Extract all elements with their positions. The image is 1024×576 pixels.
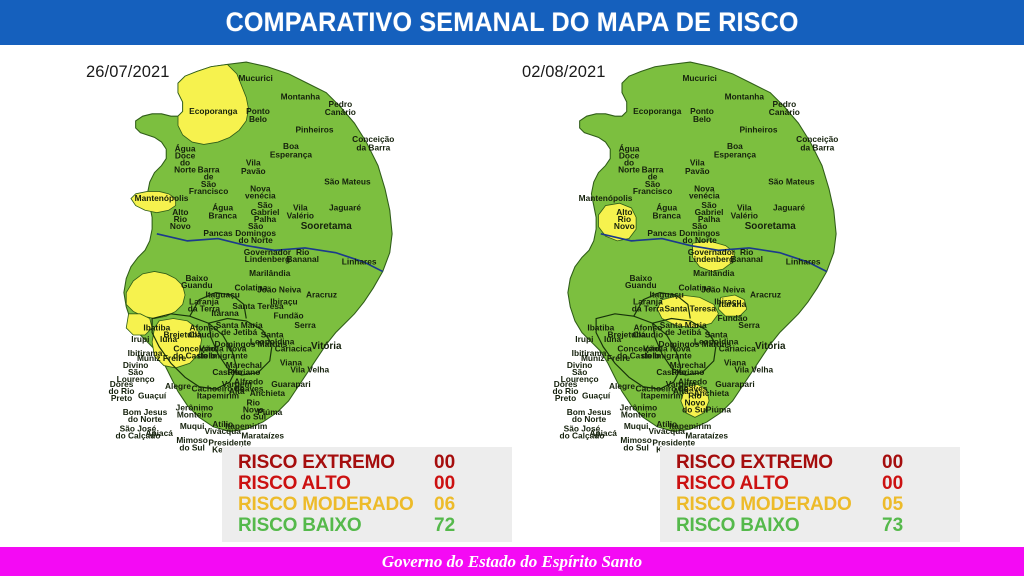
svg-text:Itarana: Itarana bbox=[211, 308, 239, 318]
legend-label-extremo: RISCO EXTREMO bbox=[238, 453, 434, 472]
svg-text:São Mateus: São Mateus bbox=[324, 176, 371, 186]
panel-week-current: 02/08/2021 bbox=[512, 45, 1024, 543]
svg-text:Pavão: Pavão bbox=[685, 166, 710, 176]
legend-label-alto: RISCO ALTO bbox=[238, 474, 434, 493]
legend-value-baixo: 72 bbox=[434, 516, 455, 535]
legend-row-moderado-right: RISCO MODERADO 05 bbox=[676, 495, 948, 514]
svg-text:Mucurici: Mucurici bbox=[682, 73, 716, 83]
svg-text:Itarana: Itarana bbox=[719, 299, 747, 309]
svg-text:Ecoporanga: Ecoporanga bbox=[633, 106, 682, 116]
svg-text:Montanha: Montanha bbox=[725, 92, 765, 102]
svg-text:São Mateus: São Mateus bbox=[768, 176, 815, 186]
svg-text:Cariacica: Cariacica bbox=[719, 343, 756, 353]
svg-text:Monteiro: Monteiro bbox=[621, 409, 656, 419]
svg-text:do Sul: do Sul bbox=[682, 405, 708, 415]
svg-text:João Neiva: João Neiva bbox=[701, 285, 745, 295]
legend-value-baixo: 73 bbox=[882, 516, 903, 535]
svg-text:Apiacá: Apiacá bbox=[589, 428, 617, 438]
legend-value-alto: 00 bbox=[882, 474, 903, 493]
legend-value-moderado: 05 bbox=[882, 495, 903, 514]
legend-label-moderado: RISCO MODERADO bbox=[238, 495, 434, 514]
legend-row-moderado-left: RISCO MODERADO 06 bbox=[238, 495, 500, 514]
svg-text:Valério: Valério bbox=[731, 211, 758, 221]
svg-text:Alta: Alta bbox=[229, 386, 245, 396]
svg-text:Sooretama: Sooretama bbox=[301, 221, 353, 232]
svg-text:Pavão: Pavão bbox=[241, 166, 266, 176]
svg-text:Norte: Norte bbox=[174, 165, 196, 175]
svg-text:da Barra: da Barra bbox=[800, 142, 834, 152]
legend-row-alto-left: RISCO ALTO 00 bbox=[238, 474, 500, 493]
svg-text:Vila Velha: Vila Velha bbox=[290, 365, 329, 375]
svg-text:Serra: Serra bbox=[294, 320, 316, 330]
map-svg-right: Mucurici Montanha Pedro Canário Ponto Be… bbox=[522, 55, 882, 455]
legend-value-moderado: 06 bbox=[434, 495, 455, 514]
page-title: COMPARATIVO SEMANAL DO MAPA DE RISCO bbox=[225, 7, 798, 38]
svg-text:Novo: Novo bbox=[170, 221, 191, 231]
svg-text:Alegre: Alegre bbox=[165, 381, 191, 391]
svg-text:da Barra: da Barra bbox=[356, 142, 390, 152]
legend-row-baixo-right: RISCO BAIXO 73 bbox=[676, 516, 948, 535]
legend-label-alto: RISCO ALTO bbox=[676, 474, 882, 493]
svg-text:Belo: Belo bbox=[693, 114, 711, 124]
svg-text:Muqui: Muqui bbox=[180, 421, 205, 431]
footer-bar: Governo do Estado do Espírito Santo bbox=[0, 547, 1024, 576]
maps-comparison-area: 26/07/2021 bbox=[0, 45, 1024, 543]
legend-value-extremo: 00 bbox=[434, 453, 455, 472]
legend-label-moderado: RISCO MODERADO bbox=[676, 495, 882, 514]
svg-text:do Norte: do Norte bbox=[238, 235, 273, 245]
svg-text:Jaguaré: Jaguaré bbox=[329, 202, 361, 212]
legend-value-extremo: 00 bbox=[882, 453, 903, 472]
svg-text:Ibatiba: Ibatiba bbox=[587, 322, 614, 332]
footer-credit: Governo do Estado do Espírito Santo bbox=[382, 552, 642, 572]
svg-text:Guaçuí: Guaçuí bbox=[582, 391, 611, 401]
svg-text:Francisco: Francisco bbox=[633, 186, 672, 196]
map-espirito-santo-left: Mucurici Montanha Pedro Canário Ponto Be… bbox=[78, 55, 438, 455]
svg-text:Linhares: Linhares bbox=[342, 256, 377, 266]
svg-text:da Terra: da Terra bbox=[632, 303, 665, 313]
svg-text:do Norte: do Norte bbox=[682, 235, 717, 245]
svg-text:Mantenópolis: Mantenópolis bbox=[135, 193, 189, 203]
map-svg-left: Mucurici Montanha Pedro Canário Ponto Be… bbox=[78, 55, 438, 455]
svg-text:Esperança: Esperança bbox=[270, 149, 313, 159]
svg-text:Belo: Belo bbox=[249, 114, 267, 124]
svg-text:Monteiro: Monteiro bbox=[177, 409, 212, 419]
svg-text:Piúma: Piúma bbox=[706, 405, 731, 415]
svg-text:Bananal: Bananal bbox=[730, 254, 762, 264]
svg-text:Lindenberg: Lindenberg bbox=[245, 254, 290, 264]
svg-text:Guaçuí: Guaçuí bbox=[138, 391, 167, 401]
svg-text:Bananal: Bananal bbox=[286, 254, 318, 264]
svg-text:Norte: Norte bbox=[618, 165, 640, 175]
svg-text:Pancas: Pancas bbox=[647, 228, 677, 238]
svg-text:do Sul: do Sul bbox=[179, 442, 205, 452]
panel-week-previous: 26/07/2021 bbox=[0, 45, 512, 543]
svg-text:Preto: Preto bbox=[111, 393, 132, 403]
svg-text:Montanha: Montanha bbox=[281, 92, 321, 102]
legend-row-extremo-right: RISCO EXTREMO 00 bbox=[676, 453, 948, 472]
svg-text:Irupi: Irupi bbox=[575, 334, 593, 344]
svg-text:Branca: Branca bbox=[209, 211, 238, 221]
svg-text:Cariacica: Cariacica bbox=[275, 343, 312, 353]
map-espirito-santo-right: Mucurici Montanha Pedro Canário Ponto Be… bbox=[522, 55, 882, 455]
svg-text:Pinheiros: Pinheiros bbox=[295, 125, 333, 135]
svg-text:Vitória: Vitória bbox=[755, 341, 786, 352]
svg-text:Vitória: Vitória bbox=[311, 341, 342, 352]
svg-text:Santa Teresa: Santa Teresa bbox=[665, 303, 717, 313]
svg-text:Preto: Preto bbox=[555, 393, 576, 403]
svg-text:Lindenberg: Lindenberg bbox=[689, 254, 734, 264]
svg-text:Ibatiba: Ibatiba bbox=[143, 322, 170, 332]
legend-box-left: RISCO EXTREMO 00 RISCO ALTO 00 RISCO MOD… bbox=[222, 447, 512, 542]
svg-text:Iúna: Iúna bbox=[160, 334, 178, 344]
legend-value-alto: 00 bbox=[434, 474, 455, 493]
svg-text:Jaguaré: Jaguaré bbox=[773, 202, 805, 212]
svg-text:Esperança: Esperança bbox=[714, 149, 757, 159]
svg-text:Serra: Serra bbox=[738, 320, 760, 330]
svg-text:Pancas: Pancas bbox=[203, 228, 233, 238]
svg-text:Sooretama: Sooretama bbox=[745, 221, 797, 232]
svg-text:Pinheiros: Pinheiros bbox=[739, 125, 777, 135]
legend-row-extremo-left: RISCO EXTREMO 00 bbox=[238, 453, 500, 472]
svg-text:Mucurici: Mucurici bbox=[238, 73, 272, 83]
svg-text:Francisco: Francisco bbox=[189, 186, 228, 196]
svg-text:Iúna: Iúna bbox=[604, 334, 622, 344]
legend-label-baixo: RISCO BAIXO bbox=[676, 516, 882, 535]
svg-text:Aracruz: Aracruz bbox=[306, 289, 337, 299]
legend-label-extremo: RISCO EXTREMO bbox=[676, 453, 882, 472]
svg-text:Canário: Canário bbox=[325, 107, 356, 117]
svg-text:Marilândia: Marilândia bbox=[693, 268, 735, 278]
svg-text:Muqui: Muqui bbox=[624, 421, 649, 431]
svg-text:Irupi: Irupi bbox=[131, 334, 149, 344]
svg-text:Apiacá: Apiacá bbox=[145, 428, 173, 438]
svg-text:Novo: Novo bbox=[614, 221, 635, 231]
svg-text:Alta: Alta bbox=[673, 386, 689, 396]
header-bar: COMPARATIVO SEMANAL DO MAPA DE RISCO bbox=[0, 0, 1024, 45]
legend-label-baixo: RISCO BAIXO bbox=[238, 516, 434, 535]
svg-text:Aracruz: Aracruz bbox=[750, 289, 781, 299]
svg-text:Mantenópolis: Mantenópolis bbox=[579, 193, 633, 203]
slide-root: COMPARATIVO SEMANAL DO MAPA DE RISCO 26/… bbox=[0, 0, 1024, 576]
svg-text:Ecoporanga: Ecoporanga bbox=[189, 106, 238, 116]
svg-text:Alegre: Alegre bbox=[609, 381, 635, 391]
svg-text:Valério: Valério bbox=[287, 211, 314, 221]
legend-row-alto-right: RISCO ALTO 00 bbox=[676, 474, 948, 493]
legend-box-right: RISCO EXTREMO 00 RISCO ALTO 00 RISCO MOD… bbox=[660, 447, 960, 542]
svg-text:Branca: Branca bbox=[653, 211, 682, 221]
legend-row-baixo-left: RISCO BAIXO 72 bbox=[238, 516, 500, 535]
svg-text:Linhares: Linhares bbox=[786, 256, 821, 266]
svg-text:Piúma: Piúma bbox=[257, 407, 282, 417]
svg-text:Vila Velha: Vila Velha bbox=[734, 365, 773, 375]
svg-text:Canário: Canário bbox=[769, 107, 800, 117]
svg-text:João Neiva: João Neiva bbox=[257, 285, 301, 295]
svg-text:do Sul: do Sul bbox=[623, 442, 648, 452]
svg-text:Marilândia: Marilândia bbox=[249, 268, 291, 278]
